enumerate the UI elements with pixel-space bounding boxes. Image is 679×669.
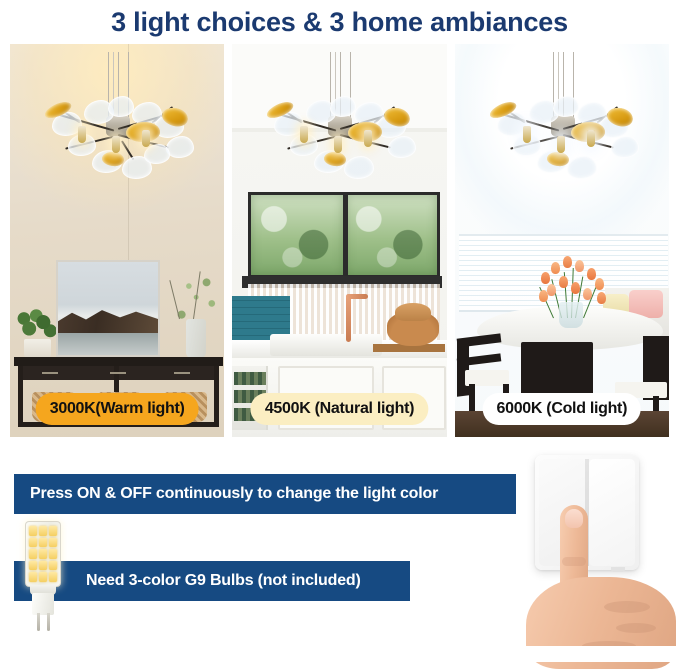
fingernail <box>565 509 583 528</box>
panel-natural-light: 4500K (Natural light) <box>232 44 446 437</box>
page-title: 3 light choices & 3 home ambiances <box>0 0 679 44</box>
chair-back-left <box>456 333 501 347</box>
g9-bulb-icon <box>18 521 68 633</box>
bulb-pin-right <box>47 613 50 631</box>
bulb-ceramic-base <box>32 593 54 615</box>
potted-plant <box>16 307 60 359</box>
copper-faucet <box>346 294 351 342</box>
kitchen-window <box>248 192 440 278</box>
badge-4500k: 4500K (Natural light) <box>251 393 428 425</box>
chandelier-icon <box>22 52 212 197</box>
light-temperature-panels: 3000K(Warm light) <box>10 44 669 437</box>
glass-vase <box>559 302 583 328</box>
banner-press-on-off: Press ON & OFF continuously to change th… <box>14 474 516 514</box>
bulb-pin-left <box>37 613 40 631</box>
bulb-led-array <box>25 521 61 587</box>
footer-spacer <box>0 646 679 662</box>
dining-chair-left <box>457 339 469 396</box>
banner-bulb-label: Need 3-color G9 Bulbs (not included) <box>86 572 361 590</box>
panel-warm-light: 3000K(Warm light) <box>10 44 224 437</box>
abstract-landscape-painting <box>56 260 160 357</box>
chandelier-icon <box>244 52 434 197</box>
banner-press-label: Press ON & OFF continuously to change th… <box>30 485 438 503</box>
badge-3000k: 3000K(Warm light) <box>36 393 199 425</box>
knuckle-crease <box>562 557 586 566</box>
badge-6000k: 6000K (Cold light) <box>483 393 642 425</box>
chandelier-icon <box>467 52 657 197</box>
glass-vase <box>186 319 206 359</box>
panel-cold-light: 6000K (Cold light) <box>455 44 669 437</box>
banner-need-g9-bulbs: Need 3-color G9 Bulbs (not included) <box>14 561 410 601</box>
hand-pressing-switch <box>520 505 679 662</box>
kitchen-sink <box>270 334 382 356</box>
bread-basket <box>387 312 439 346</box>
